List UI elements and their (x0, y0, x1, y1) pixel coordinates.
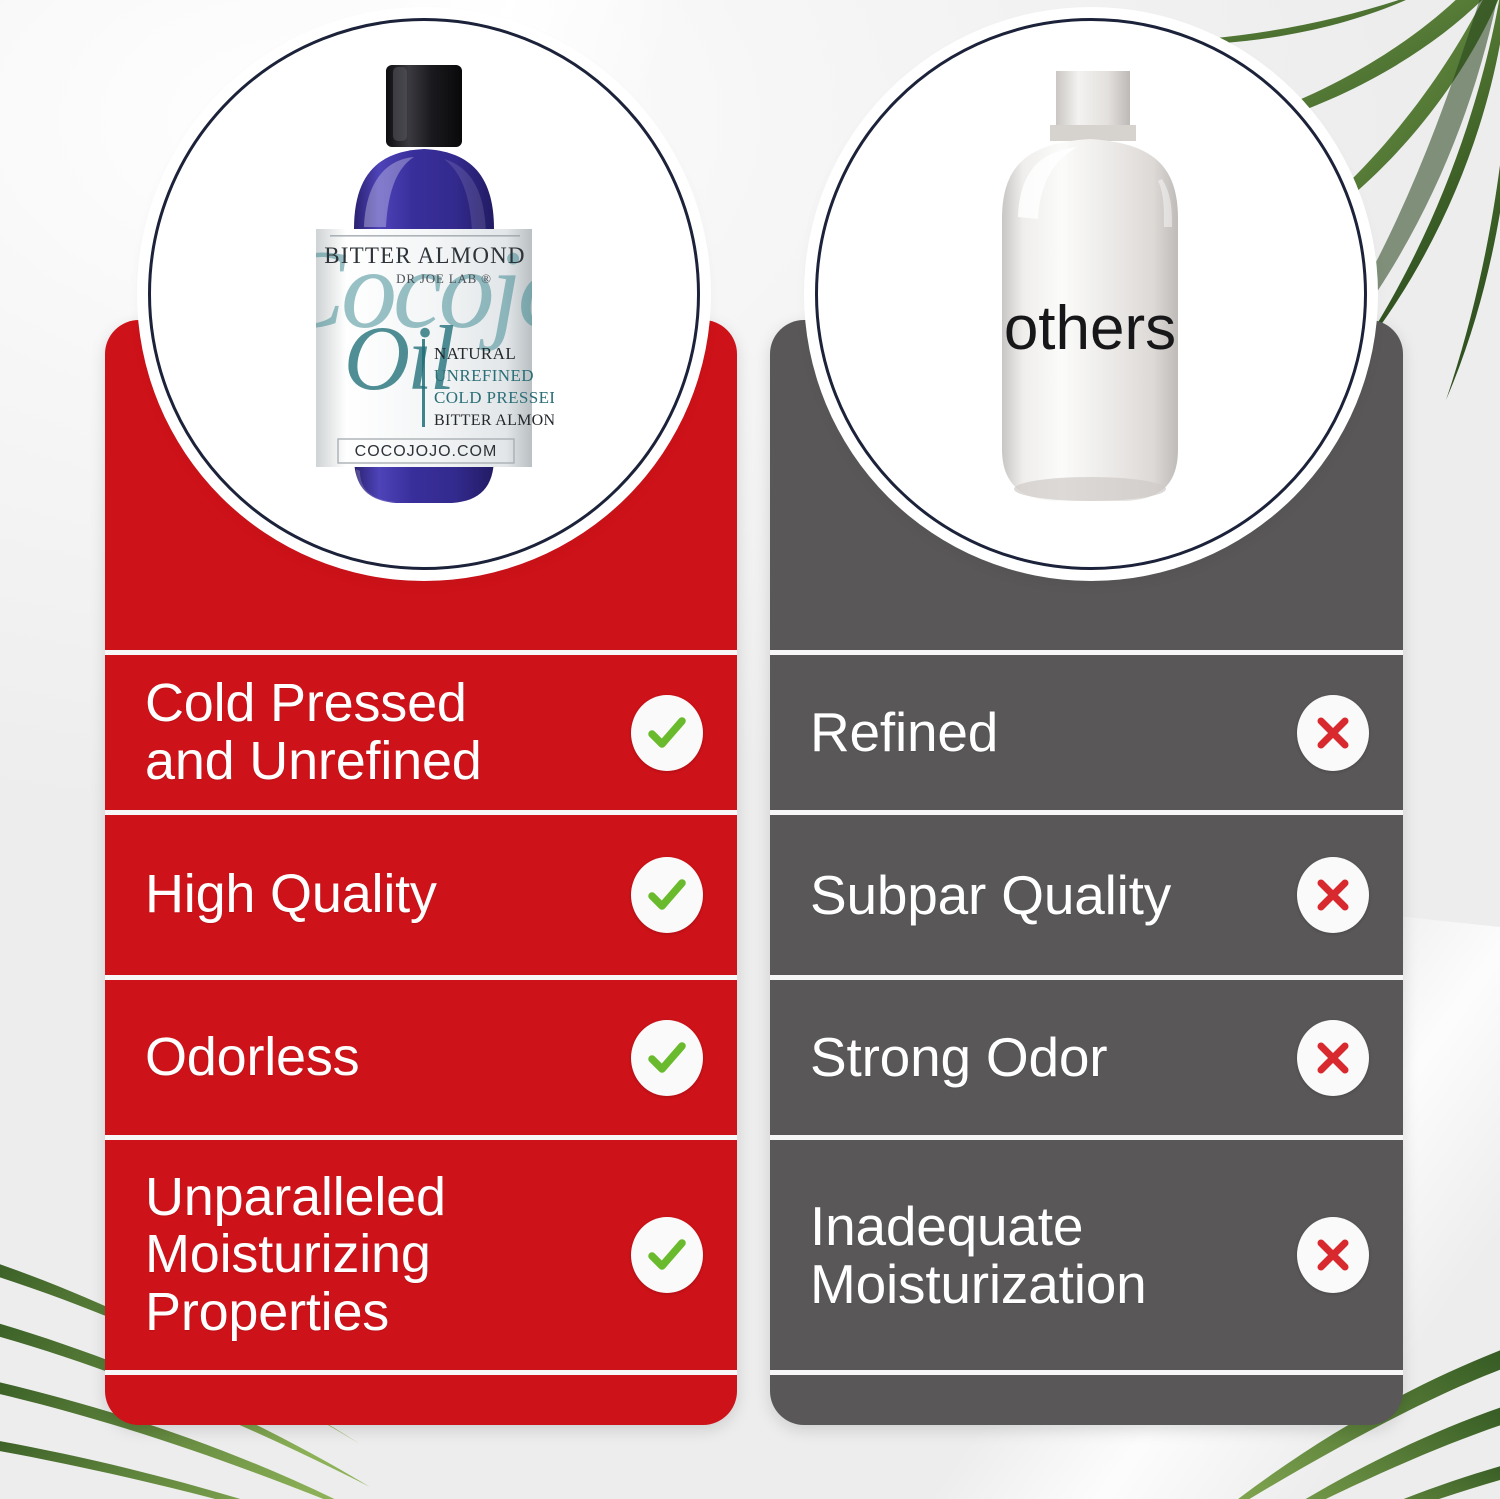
table-row[interactable]: Cold Pressed and Unrefined (105, 650, 737, 810)
cross-icon (1297, 695, 1369, 771)
cross-icon (1297, 1020, 1369, 1096)
pros-row-list: Cold Pressed and Unrefined High Quality … (105, 650, 737, 1425)
cons-panel-footer-strip (770, 1370, 1403, 1425)
comparison-infographic: Cold Pressed and Unrefined High Quality … (0, 0, 1500, 1499)
table-row[interactable]: Strong Odor (770, 975, 1403, 1135)
svg-text:others: others (1004, 294, 1176, 363)
cons-row-label: Strong Odor (810, 1028, 1107, 1086)
svg-text:BITTER ALMOND OIL: BITTER ALMOND OIL (434, 412, 554, 429)
cross-icon (1297, 857, 1369, 933)
table-row[interactable]: High Quality (105, 810, 737, 975)
cons-product-circle: others (815, 18, 1367, 570)
cross-icon (1297, 1217, 1369, 1293)
cocojojo-bottle-image: Cocojo Oil BITTER ALMOND DR JOE LAB ® NA… (151, 21, 697, 567)
svg-text:COLD PRESSED: COLD PRESSED (434, 388, 554, 407)
svg-text:UNREFINED: UNREFINED (434, 366, 534, 385)
pros-row-label: Cold Pressed and Unrefined (145, 675, 482, 789)
pros-panel-footer-strip (105, 1370, 737, 1425)
check-icon (631, 857, 703, 933)
others-bottle-image: others (818, 21, 1364, 567)
cons-row-list: Refined Subpar Quality Strong Odor (770, 650, 1403, 1425)
check-icon (631, 695, 703, 771)
svg-text:DR JOE LAB ®: DR JOE LAB ® (396, 271, 492, 286)
check-icon (631, 1020, 703, 1096)
check-icon (631, 1217, 703, 1293)
svg-text:COCOJOJO.COM: COCOJOJO.COM (355, 443, 498, 460)
cons-row-label: Subpar Quality (810, 866, 1171, 924)
cons-row-label: Refined (810, 703, 998, 761)
table-row[interactable]: Subpar Quality (770, 810, 1403, 975)
table-row[interactable]: Odorless (105, 975, 737, 1135)
pros-row-label: Odorless (145, 1029, 359, 1086)
table-row[interactable]: Refined (770, 650, 1403, 810)
pros-row-label: Unparalleled Moisturizing Properties (145, 1169, 446, 1341)
cons-row-label: Inadequate Moisturization (810, 1197, 1147, 1314)
table-row[interactable]: Unparalleled Moisturizing Properties (105, 1135, 737, 1370)
pros-product-circle: Cocojo Oil BITTER ALMOND DR JOE LAB ® NA… (148, 18, 700, 570)
table-row[interactable]: Inadequate Moisturization (770, 1135, 1403, 1370)
svg-text:BITTER ALMOND: BITTER ALMOND (324, 243, 526, 268)
pros-row-label: High Quality (145, 866, 437, 923)
svg-text:NATURAL: NATURAL (434, 344, 516, 363)
